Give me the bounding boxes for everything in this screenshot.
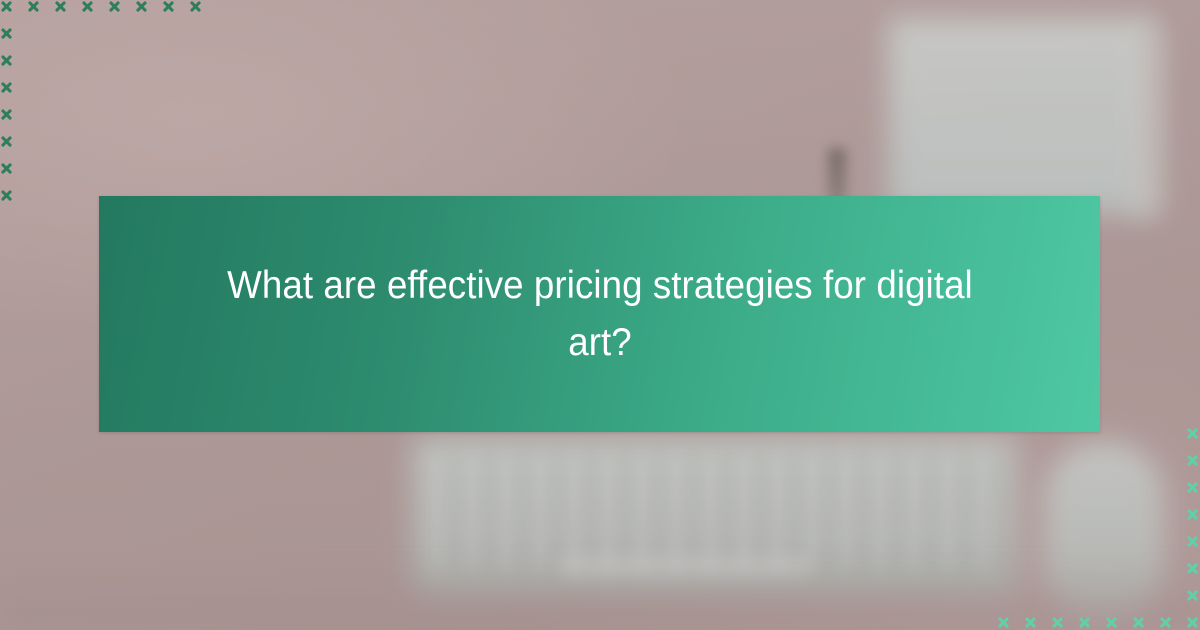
x-cross-icon xyxy=(0,189,13,202)
x-cross-icon xyxy=(0,54,13,67)
x-cross-icon xyxy=(1024,616,1037,629)
headline-banner: What are effective pricing strategies fo… xyxy=(99,196,1100,432)
x-cross-icon xyxy=(0,162,13,175)
x-cross-icon xyxy=(1186,616,1199,629)
headline-text: What are effective pricing strategies fo… xyxy=(224,257,976,371)
x-cross-icon xyxy=(54,0,67,13)
x-cross-icon xyxy=(189,0,202,13)
x-cross-icon xyxy=(1186,481,1199,494)
x-cross-icon xyxy=(1186,589,1199,602)
x-cross-icon xyxy=(0,0,13,13)
x-cross-icon xyxy=(1186,562,1199,575)
x-cross-icon xyxy=(1051,616,1064,629)
x-cross-icon xyxy=(0,108,13,121)
x-cross-icon xyxy=(108,0,121,13)
x-cross-icon xyxy=(1186,454,1199,467)
x-cross-icon xyxy=(1078,616,1091,629)
x-cross-icon xyxy=(0,81,13,94)
page-canvas: What are effective pricing strategies fo… xyxy=(0,0,1200,630)
x-cross-icon xyxy=(135,0,148,13)
x-cross-icon xyxy=(162,0,175,13)
x-cross-icon xyxy=(1159,616,1172,629)
x-cross-icon xyxy=(81,0,94,13)
x-cross-icon xyxy=(1186,427,1199,440)
x-cross-icon xyxy=(0,135,13,148)
x-cross-icon xyxy=(1186,535,1199,548)
x-cross-icon xyxy=(0,27,13,40)
x-cross-icon xyxy=(1132,616,1145,629)
x-cross-icon xyxy=(27,0,40,13)
x-cross-icon xyxy=(1186,508,1199,521)
x-cross-icon xyxy=(1105,616,1118,629)
x-cross-icon xyxy=(997,616,1010,629)
